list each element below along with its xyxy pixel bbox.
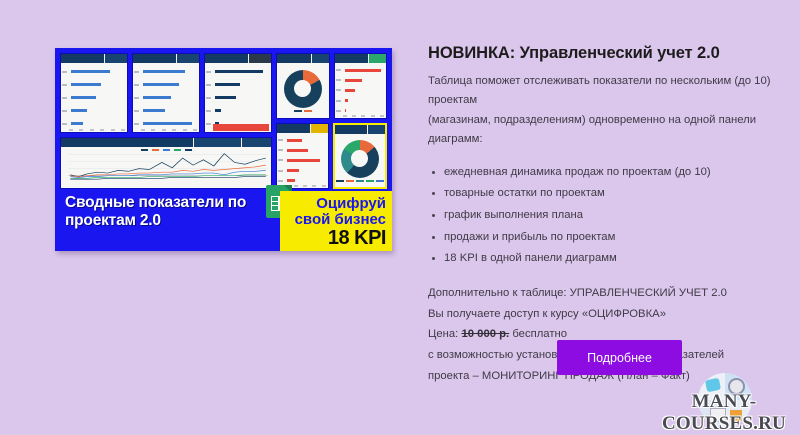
dashboard-left-column xyxy=(60,53,272,189)
card-body xyxy=(133,63,199,132)
card-sales-dynamics-line xyxy=(60,137,272,189)
dashboard-preview xyxy=(60,53,387,189)
card-remainders-bar xyxy=(204,53,272,133)
badge-line-1: Оцифруй xyxy=(316,196,386,211)
bonus-line-2: Вы получаете доступ к курсу «ОЦИФРОВКА» xyxy=(428,304,784,325)
card-share-donut xyxy=(276,53,330,119)
bar-series xyxy=(135,65,197,130)
card-header xyxy=(277,124,328,133)
bar-series xyxy=(337,65,385,116)
page-title: НОВИНКА: Управленческий учет 2.0 xyxy=(428,44,784,63)
price-new: бесплатно xyxy=(512,328,567,340)
y-axis-ticks xyxy=(61,65,68,130)
intro-paragraph: Таблица поможет отслеживать показатели п… xyxy=(428,72,784,150)
promo-banner[interactable]: Сводные показатели по проектам 2.0 Оцифр… xyxy=(55,48,392,251)
dashboard-right-top-row xyxy=(276,53,387,119)
card-header xyxy=(205,54,271,63)
list-item: 18 KPI в одной панели диаграмм xyxy=(428,248,784,270)
dashboard-right-bottom-row xyxy=(276,123,387,189)
y-axis-ticks xyxy=(205,65,212,130)
donut-wrap xyxy=(279,65,327,116)
bar-series xyxy=(279,135,326,186)
badge-line-3: 18 KPI xyxy=(328,228,386,248)
card-body xyxy=(61,63,127,132)
card-header xyxy=(335,125,386,134)
card-header xyxy=(133,54,199,63)
donut-wrap xyxy=(337,136,384,185)
card-body xyxy=(277,63,329,118)
feature-list: ежедневная динамика продаж по проектам (… xyxy=(428,162,784,270)
offer-content: НОВИНКА: Управленческий учет 2.0 Таблица… xyxy=(428,44,784,386)
details-button[interactable]: Подробнее xyxy=(557,340,682,375)
x-axis-ticks xyxy=(69,129,125,131)
intro-line-2: (магазинам, подразделениям) одновременно… xyxy=(428,111,784,150)
dashboard-top-row xyxy=(60,53,272,133)
card-header xyxy=(335,54,387,63)
dashboard-right-column xyxy=(276,53,387,189)
card-kpi-bar xyxy=(276,123,329,189)
card-body xyxy=(277,133,328,188)
y-axis-ticks xyxy=(133,65,140,130)
list-item: продажи и прибыль по проектам xyxy=(428,227,784,249)
card-body xyxy=(61,147,271,188)
badge-line-2: свой бизнес xyxy=(295,212,386,227)
bar-series xyxy=(207,65,269,130)
summary-strip xyxy=(213,124,269,131)
card-header xyxy=(61,54,127,63)
card-header xyxy=(61,138,271,147)
card-top-products-bar xyxy=(60,53,128,133)
list-item: товарные остатки по проектам xyxy=(428,183,784,205)
card-body xyxy=(335,63,387,118)
chart-legend xyxy=(336,180,384,182)
list-item: график выполнения плана xyxy=(428,205,784,227)
bonus-line-1: Дополнительно к таблице: УПРАВЛЕНЧЕСКИЙ … xyxy=(428,283,784,304)
donut-chart xyxy=(284,70,322,108)
y-axis-ticks xyxy=(335,65,342,116)
watermark-text: MANY-COURSES.RU xyxy=(648,391,800,435)
banner-caption: Сводные показатели по проектам 2.0 xyxy=(65,194,273,229)
chart-legend xyxy=(294,110,312,112)
donut-chart xyxy=(341,140,379,178)
card-body xyxy=(335,134,386,187)
card-body xyxy=(205,63,271,132)
x-axis-ticks xyxy=(343,115,385,117)
banner-kpi-badge: Оцифруй свой бизнес 18 KPI xyxy=(280,191,392,251)
x-axis-ticks xyxy=(141,129,197,131)
card-profitability-bar xyxy=(334,53,388,119)
bar-series xyxy=(63,65,125,130)
card-total-sales-donut xyxy=(333,123,388,189)
price-old: 10 000 р. xyxy=(461,328,509,340)
card-header xyxy=(277,54,329,63)
card-price-segments-bar xyxy=(132,53,200,133)
y-axis-ticks xyxy=(277,135,284,186)
line-chart-svg xyxy=(62,151,270,181)
intro-line-1: Таблица поможет отслеживать показатели п… xyxy=(428,72,784,111)
watermark: MANY-COURSES.RU xyxy=(648,381,800,421)
list-item: ежедневная динамика продаж по проектам (… xyxy=(428,162,784,184)
price-label: Цена: xyxy=(428,328,458,340)
